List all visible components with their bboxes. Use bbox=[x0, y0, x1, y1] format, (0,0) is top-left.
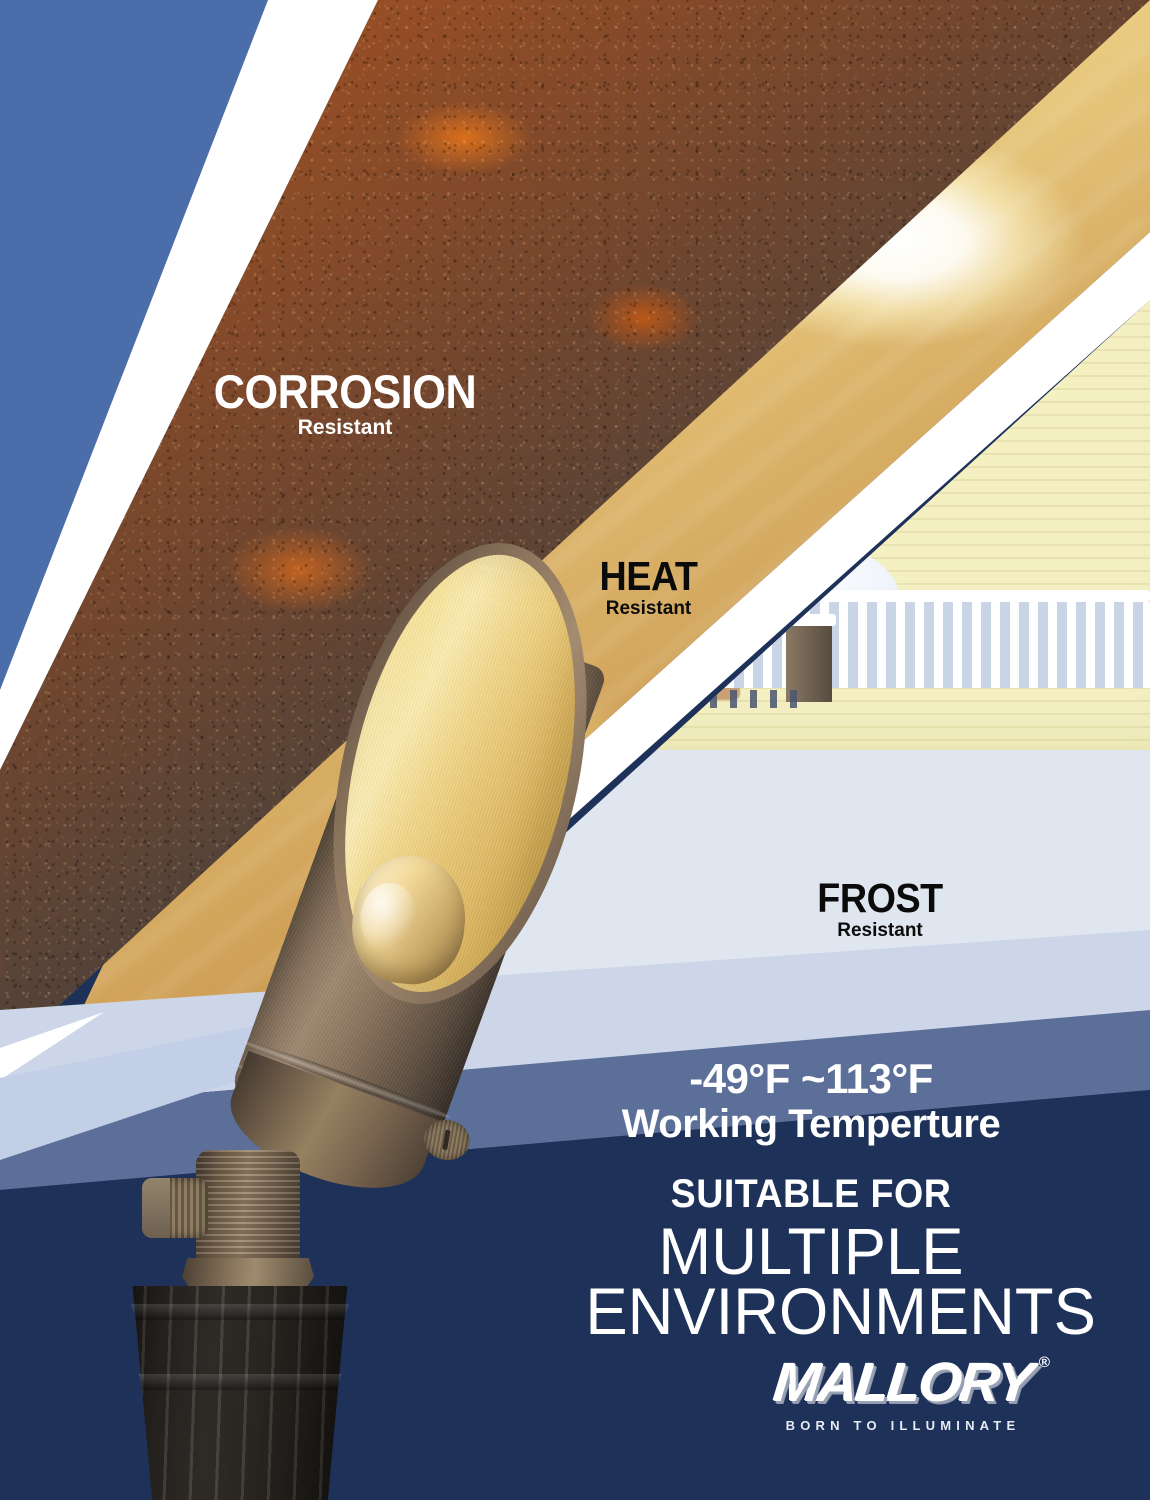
badge-corrosion-subtitle: Resistant bbox=[200, 417, 490, 438]
registered-trademark-icon: ® bbox=[1039, 1354, 1050, 1371]
working-temperature-label: Working Temperture bbox=[576, 1104, 1046, 1144]
badge-corrosion: CORROSION Resistant bbox=[200, 368, 490, 438]
badge-heat-title: HEAT bbox=[568, 556, 729, 597]
suitable-for-label: SUITABLE FOR bbox=[590, 1174, 1032, 1214]
badge-corrosion-title: CORROSION bbox=[212, 368, 479, 415]
logo-wordmark: MALLORY ® bbox=[771, 1352, 1035, 1414]
logo-tagline: BORN TO ILLUMINATE bbox=[768, 1418, 1038, 1433]
headline-line-2: ENVIRONMENTS bbox=[585, 1278, 1036, 1344]
marketing-poster: CORROSION Resistant HEAT Resistant FROST… bbox=[0, 0, 1150, 1500]
badge-heat: HEAT Resistant bbox=[561, 556, 736, 618]
badge-heat-subtitle: Resistant bbox=[561, 599, 736, 618]
badge-frost-subtitle: Resistant bbox=[795, 921, 965, 940]
brand-logo: MALLORY ® BORN TO ILLUMINATE bbox=[768, 1352, 1038, 1433]
logo-wordmark-text: MALLORY bbox=[771, 1353, 1034, 1413]
headline-block: -49°F ~113°F Working Temperture SUITABLE… bbox=[576, 1058, 1046, 1344]
badge-frost: FROST Resistant bbox=[795, 878, 965, 940]
badge-frost-title: FROST bbox=[802, 878, 958, 919]
working-temperature-range: -49°F ~113°F bbox=[576, 1058, 1046, 1100]
